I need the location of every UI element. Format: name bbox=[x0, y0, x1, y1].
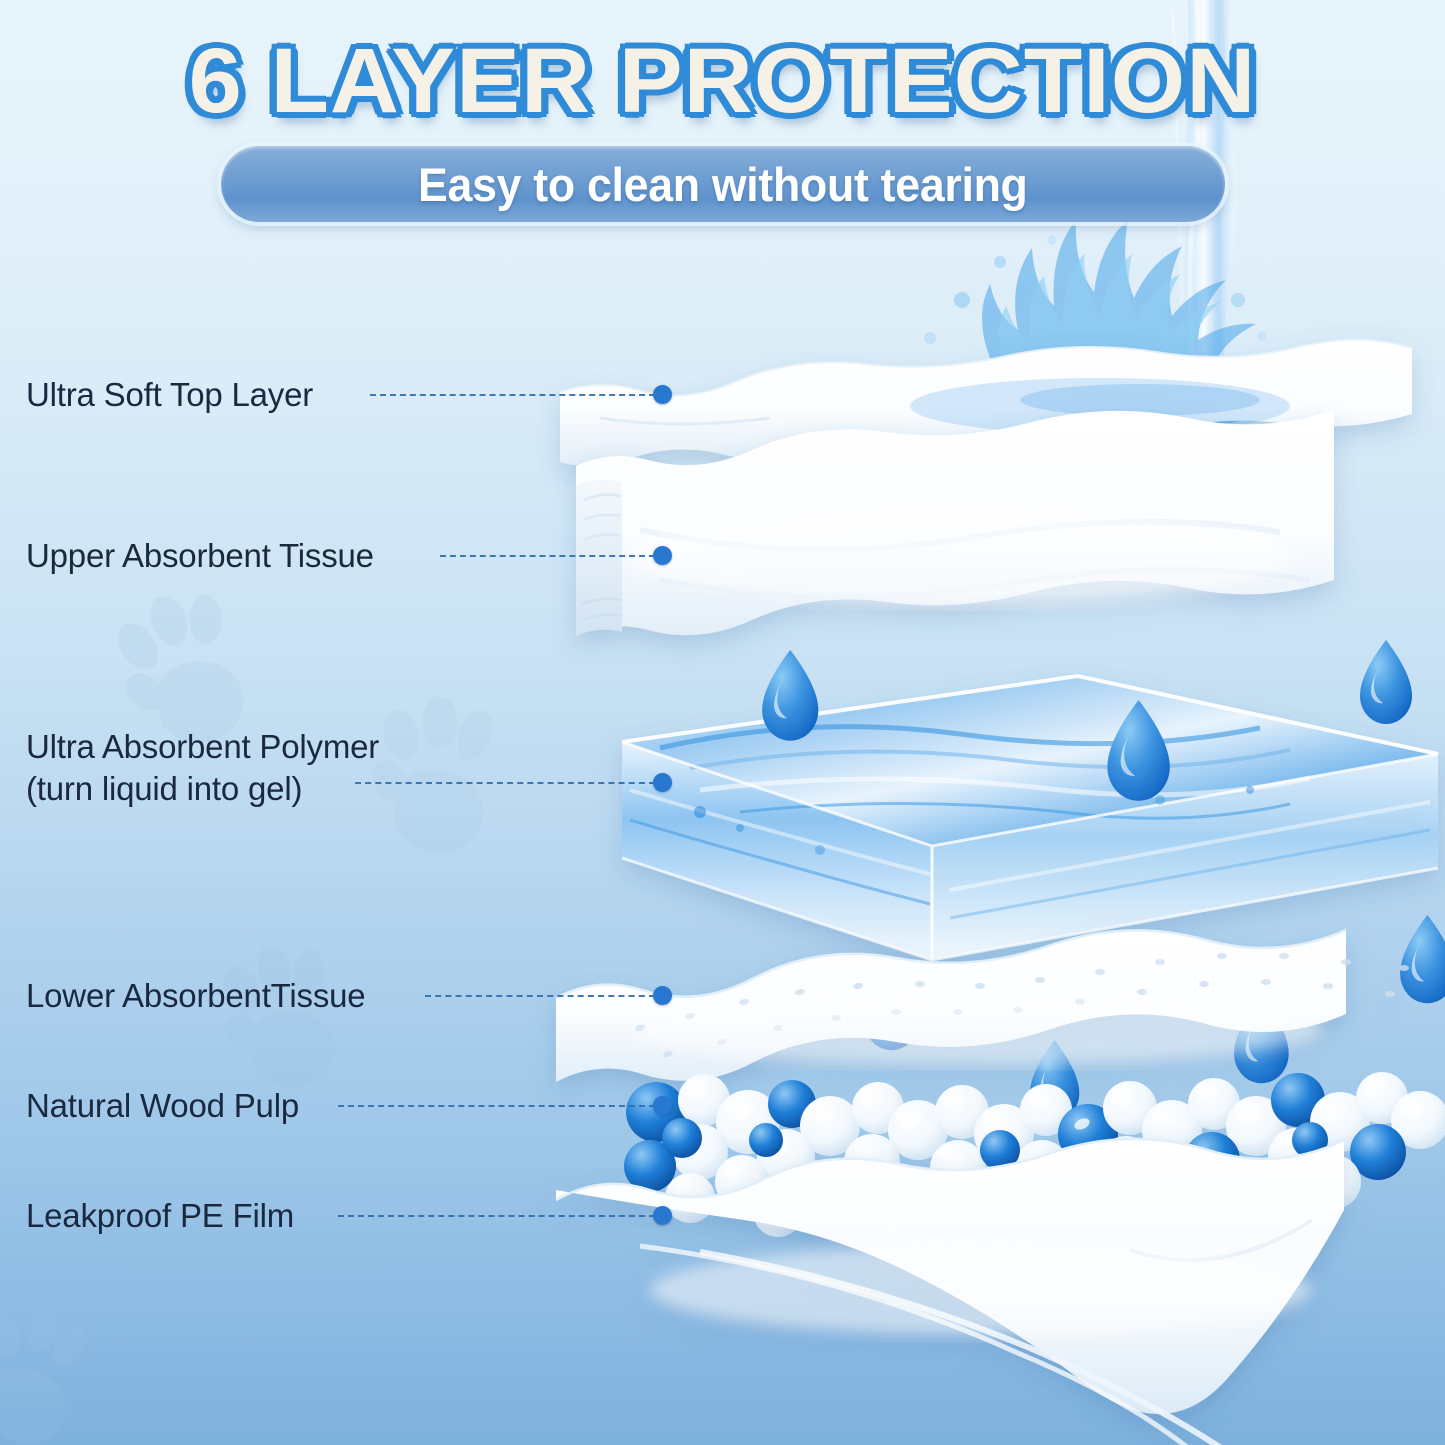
paw-print-watermark bbox=[211, 937, 369, 1103]
callout-label-leakproof-pe-film: Leakproof PE Film bbox=[26, 1196, 294, 1237]
page-title-text: 6 LAYER PROTECTION bbox=[189, 34, 1257, 130]
callout-label-upper-absorbent-tissue: Upper Absorbent Tissue bbox=[26, 536, 374, 577]
blue-water-droplets bbox=[762, 640, 1445, 1120]
callout-label-natural-wood-pulp: Natural Wood Pulp bbox=[26, 1086, 299, 1127]
leader-line-upper-absorbent-tissue bbox=[440, 555, 655, 557]
callout-label-lower-absorbent-tissue: Lower AbsorbentTissue bbox=[26, 976, 365, 1017]
water-splash-crown bbox=[898, 220, 1283, 432]
layer-ultra-absorbent-polymer bbox=[622, 676, 1438, 960]
leader-dot-ultra-soft-top-layer bbox=[653, 385, 672, 404]
leader-dot-ultra-absorbent-polymer bbox=[653, 773, 672, 792]
subtitle-text: Easy to clean without tearing bbox=[418, 157, 1028, 212]
leader-line-leakproof-pe-film bbox=[338, 1215, 655, 1217]
leader-line-natural-wood-pulp bbox=[338, 1105, 655, 1107]
callout-label-ultra-soft-top-layer: Ultra Soft Top Layer bbox=[26, 375, 313, 416]
leader-dot-lower-absorbent-tissue bbox=[653, 986, 672, 1005]
subtitle-banner: Easy to clean without tearing bbox=[221, 146, 1225, 222]
leader-dot-natural-wood-pulp bbox=[653, 1096, 672, 1115]
paw-print-watermark bbox=[0, 1291, 121, 1445]
layer-natural-wood-pulp bbox=[624, 1072, 1445, 1249]
leader-line-lower-absorbent-tissue bbox=[425, 995, 655, 997]
callout-label-ultra-absorbent-polymer: Ultra Absorbent Polymer (turn liquid int… bbox=[26, 726, 379, 810]
layer-ultra-soft-top bbox=[560, 339, 1412, 466]
leader-line-ultra-soft-top-layer bbox=[370, 394, 655, 396]
callout-label-line-1: Ultra Absorbent Polymer bbox=[26, 726, 379, 768]
callout-label-line-2: (turn liquid into gel) bbox=[26, 768, 379, 810]
leader-dot-leakproof-pe-film bbox=[653, 1206, 672, 1225]
infographic-canvas: 6 LAYER PROTECTION Easy to clean without… bbox=[0, 0, 1445, 1445]
layer-upper-absorbent-tissue bbox=[576, 410, 1334, 636]
layer-leakproof-pe-film bbox=[556, 1139, 1344, 1445]
paw-print-watermark bbox=[356, 689, 530, 872]
page-title: 6 LAYER PROTECTION bbox=[0, 34, 1445, 130]
layer-lower-absorbent-tissue bbox=[556, 930, 1409, 1082]
leader-dot-upper-absorbent-tissue bbox=[653, 546, 672, 565]
leader-line-ultra-absorbent-polymer bbox=[355, 782, 655, 784]
